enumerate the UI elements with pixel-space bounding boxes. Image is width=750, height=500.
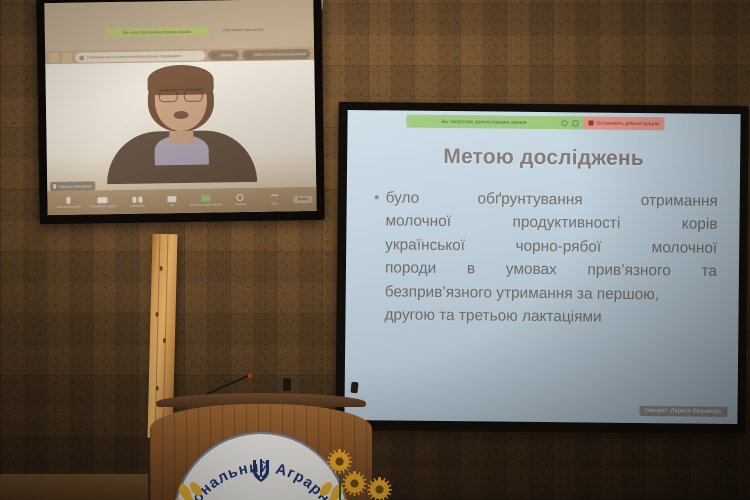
slide-line-6: другою та третьою лактаціями [384,303,716,330]
fullscreen-icon [246,52,251,57]
video-call-toolbar[interactable]: Выключить звук Остановить видео Участник… [47,187,316,215]
slide-word: української [385,233,465,257]
sunflower-head-icon [330,452,349,471]
record-label: Запись... [221,53,236,57]
mute-label: Выключить звук [57,205,81,209]
plank-knot [156,386,159,391]
slide-word: продуктивності [512,211,620,236]
video-call-projection-screen[interactable]: Вы запустили демонстрацию экрана Настрой… [36,0,325,224]
bullet-dot-icon [375,195,379,199]
stop-video-button[interactable]: Остановить видео [86,196,120,208]
back-button[interactable] [49,53,59,63]
share-screen-icon [201,195,210,202]
microphone-icon [67,197,71,204]
share-screen-button[interactable]: Демонстрация экрана [189,194,224,207]
video-stage: Лариса Казьмирук Выключить звук Останови… [45,60,316,215]
plank-knot [160,266,163,271]
leave-meeting-button[interactable]: Выйти [294,195,313,202]
presentation-slide: Вы запустили демонстрацию экрана Останов… [344,110,740,424]
active-speaker-chip: Говорит: Лариса Казьмирук [639,406,728,417]
slide-bullet: було обґрунтування отримання молочної пр… [373,186,717,330]
browser-chrome [44,0,314,51]
slide-word: було [386,186,420,210]
fullscreen-label: Войти в полноэкранный режим [254,52,306,57]
sunflower-head-icon [345,474,364,493]
participant-glasses [158,89,202,101]
slide-word: молочної [385,210,451,234]
reactions-label: Реакции [234,202,246,206]
wheat-icon [273,476,349,500]
participants-button[interactable]: Участники [120,196,154,208]
slide-word: молочної [652,236,718,260]
stop-share-label: Остановить демонстрацию [596,120,659,127]
slide-title: Метою досліджень [347,144,740,172]
screen-share-banner-left: Вы запустили демонстрацию экрана [105,27,210,38]
presentation-screen[interactable]: Вы запустили демонстрацию экрана Останов… [335,102,748,434]
slide-word: в [467,257,475,280]
chat-icon [167,196,176,202]
slide-word: породи [385,257,437,281]
slide-word: прив’язного [587,259,671,283]
wheat-icon [173,476,249,500]
camera-icon [98,197,108,203]
slide-word: та [701,260,717,284]
sunflower-head-icon [370,480,389,499]
stop-share-button[interactable]: Остановить демонстрацию [583,116,664,130]
slide-line-4: породи в умовах прив’язного та [385,257,717,284]
microphone-base-secondary [350,382,358,394]
pause-icon[interactable] [561,120,567,126]
slide-line-5: безприв’язного утримання за першою, [385,280,717,307]
slide-body: було обґрунтування отримання молочної пр… [373,186,717,330]
chat-button[interactable]: Чат [154,195,188,207]
record-dot-icon [213,53,218,58]
screen-share-status: Вы запустили демонстрацию экрана [406,115,583,130]
wall-baseboard [0,474,148,500]
address-bar-text: Пожаловаться на спам или использование с… [87,54,182,59]
slide-word: отримання [641,189,718,213]
stop-video-label: Остановить видео [89,204,116,208]
university-emblem: ький Національний Аграрний Універ [173,432,349,500]
more-button[interactable]: ••• Ещё [257,193,292,206]
slide-word: чорно-рябої [515,235,601,259]
slide-bullet-text: було обґрунтування отримання молочної пр… [384,186,717,330]
stop-square-icon [588,120,593,125]
participant-name: Лариса Казьмирук [58,183,92,189]
more-label: Ещё [271,201,278,205]
slide-word: корів [682,213,718,237]
video-call-screen-content: Вы запустили демонстрацию экрана Настрой… [44,0,316,215]
slide-line-1: було обґрунтування отримання [386,186,718,213]
chat-label: Чат [169,203,174,207]
slide-word: обґрунтування [477,187,582,212]
forward-button[interactable] [62,53,72,63]
share-screen-label: Демонстрация экрана [190,202,223,207]
participants-label: Участники [130,203,145,207]
microphone-icon [53,184,56,189]
conference-room-scene: Вы запустили демонстрацию экрана Настрой… [0,0,750,500]
record-indicator[interactable]: Запись... [209,50,240,60]
view-settings-label[interactable]: Настройки просмотра [223,27,264,33]
reactions-icon [237,194,244,201]
fullscreen-button[interactable]: Войти в полноэкранный режим [242,49,310,60]
slide-screen-content: Вы запустили демонстрацию экрана Останов… [344,110,740,424]
slide-line-3: української чорно-рябої молочної [385,233,717,260]
video-conference-app: Вы запустили демонстрацию экрана Настрой… [44,0,316,215]
address-bar[interactable]: Пожаловаться на спам или использование с… [75,51,206,63]
annotate-icon[interactable] [572,120,578,126]
mute-button[interactable]: Выключить звук [51,196,86,209]
microphone-tip-icon [248,374,252,378]
slide-line-2: молочної продуктивності корів [385,210,717,237]
screen-share-status-text: Вы запустили демонстрацию экрана [411,118,556,126]
trident-icon [251,458,271,484]
screen-share-toolbar[interactable]: Вы запустили демонстрацию экрана Останов… [406,115,664,131]
microphone-base [283,378,291,391]
slide-word: умовах [506,258,557,282]
more-icon: ••• [270,193,279,200]
lock-icon [79,55,84,60]
reactions-button[interactable]: Реакции [223,194,258,207]
participants-icon [132,196,142,202]
